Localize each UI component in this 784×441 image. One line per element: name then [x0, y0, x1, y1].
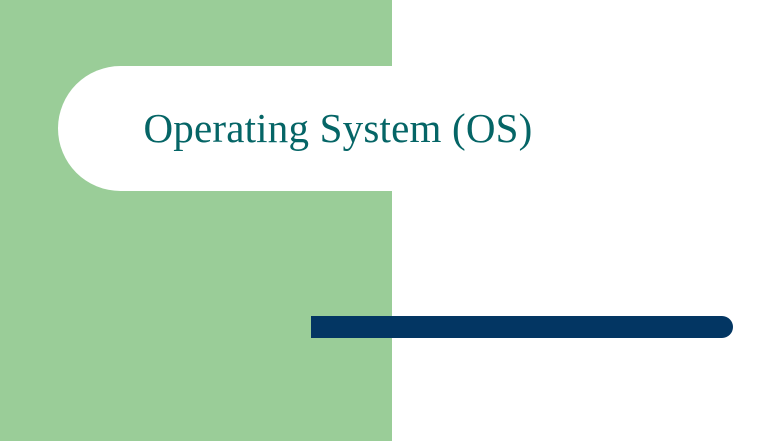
navy-accent-bar [311, 316, 733, 338]
presentation-slide: Operating System (OS) [0, 0, 784, 441]
slide-title: Operating System (OS) [58, 66, 618, 191]
